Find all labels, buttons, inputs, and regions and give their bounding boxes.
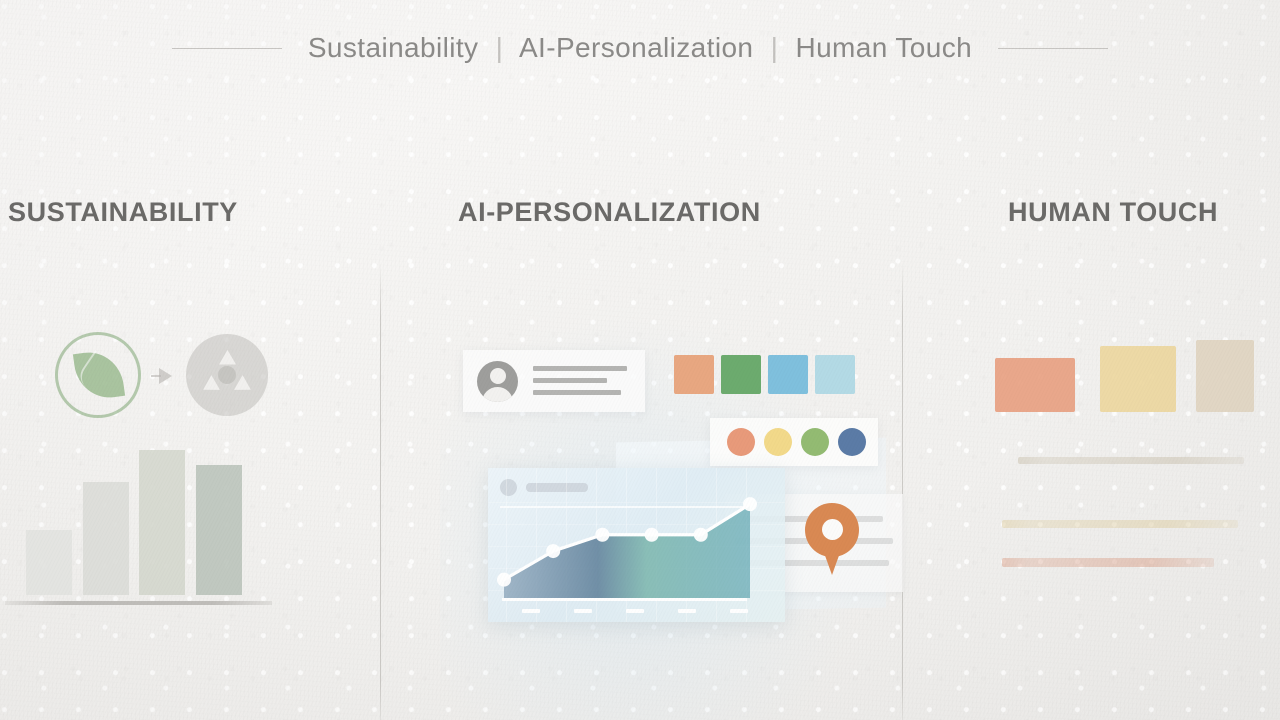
ai-color-dot-2 <box>764 428 792 456</box>
chart-point-4 <box>645 528 659 542</box>
bar-1 <box>26 530 72 595</box>
chart-point-5 <box>694 528 708 542</box>
column-title-human-touch: HUMAN TOUCH <box>1008 197 1218 228</box>
header-rule-left <box>172 48 282 49</box>
map-pin-icon <box>805 503 859 575</box>
header-rule-right <box>998 48 1108 49</box>
human-touch-swatch-1 <box>995 358 1075 412</box>
ai-color-dot-1 <box>727 428 755 456</box>
avatar-head <box>490 368 506 384</box>
ai-illustration-stage <box>380 150 902 720</box>
color-swatch-row <box>674 355 855 394</box>
x-tick-2 <box>574 609 592 613</box>
header-text: sustainability Sustainability | AI-Perso… <box>308 32 972 64</box>
human-touch-stroke-2 <box>1002 520 1238 528</box>
human-touch-stroke-1 <box>1018 457 1244 464</box>
human-touch-stroke-3 <box>1002 558 1214 567</box>
user-avatar-icon <box>477 361 518 402</box>
color-dots-card <box>710 418 878 466</box>
bar-chart-baseline <box>5 601 272 605</box>
x-tick-3 <box>626 609 644 613</box>
x-tick-1 <box>522 609 540 613</box>
profile-card <box>463 350 645 412</box>
profile-text-line-1 <box>533 366 627 371</box>
column-ai-personalization: AI-PERSONALIZATION <box>380 150 902 720</box>
ai-color-swatch-3 <box>768 355 808 394</box>
header-label-sustainability: Sustainability <box>308 32 479 63</box>
avatar-body <box>482 387 513 402</box>
recycle-center <box>218 366 236 384</box>
arrow-right-icon <box>159 368 172 384</box>
header-label-ai: AI-Personalization <box>519 32 753 63</box>
human-touch-swatch-2 <box>1100 346 1176 412</box>
chart-point-3 <box>595 528 609 542</box>
x-tick-5 <box>730 609 748 613</box>
map-pin-center <box>822 519 843 540</box>
ai-color-swatch-4 <box>815 355 855 394</box>
chart-point-2 <box>546 544 560 558</box>
profile-text-line-3 <box>533 390 621 395</box>
header-separator-1: | <box>487 32 513 63</box>
profile-text-line-2 <box>533 378 607 383</box>
bar-4 <box>196 465 242 596</box>
ai-color-swatch-2 <box>721 355 761 394</box>
chart-x-axis <box>502 598 747 601</box>
ai-color-dot-3 <box>801 428 829 456</box>
column-title-sustainability: SUSTAINABILITY <box>8 197 238 228</box>
recycle-icon <box>202 350 252 400</box>
header-label-human: Human Touch <box>795 32 972 63</box>
column-human-touch: HUMAN TOUCH <box>902 150 1280 720</box>
ai-color-dot-4 <box>838 428 866 456</box>
ai-color-swatch-1 <box>674 355 714 394</box>
recycle-arm-top <box>219 350 236 367</box>
sustainability-bar-chart <box>26 450 242 595</box>
x-tick-4 <box>678 609 696 613</box>
header-separator-2: | <box>762 32 788 63</box>
bar-3 <box>139 450 185 595</box>
chart-point-6 <box>743 497 757 511</box>
chart-area-fill <box>504 504 750 598</box>
analytics-chart-card <box>488 468 785 622</box>
human-touch-swatch-3 <box>1196 340 1254 412</box>
column-sustainability: SUSTAINABILITY <box>0 150 380 720</box>
header-tagline: sustainability Sustainability | AI-Perso… <box>0 32 1280 64</box>
chart-point-1 <box>497 573 511 587</box>
sustainability-icon-group <box>55 332 275 424</box>
bar-2 <box>83 482 129 595</box>
